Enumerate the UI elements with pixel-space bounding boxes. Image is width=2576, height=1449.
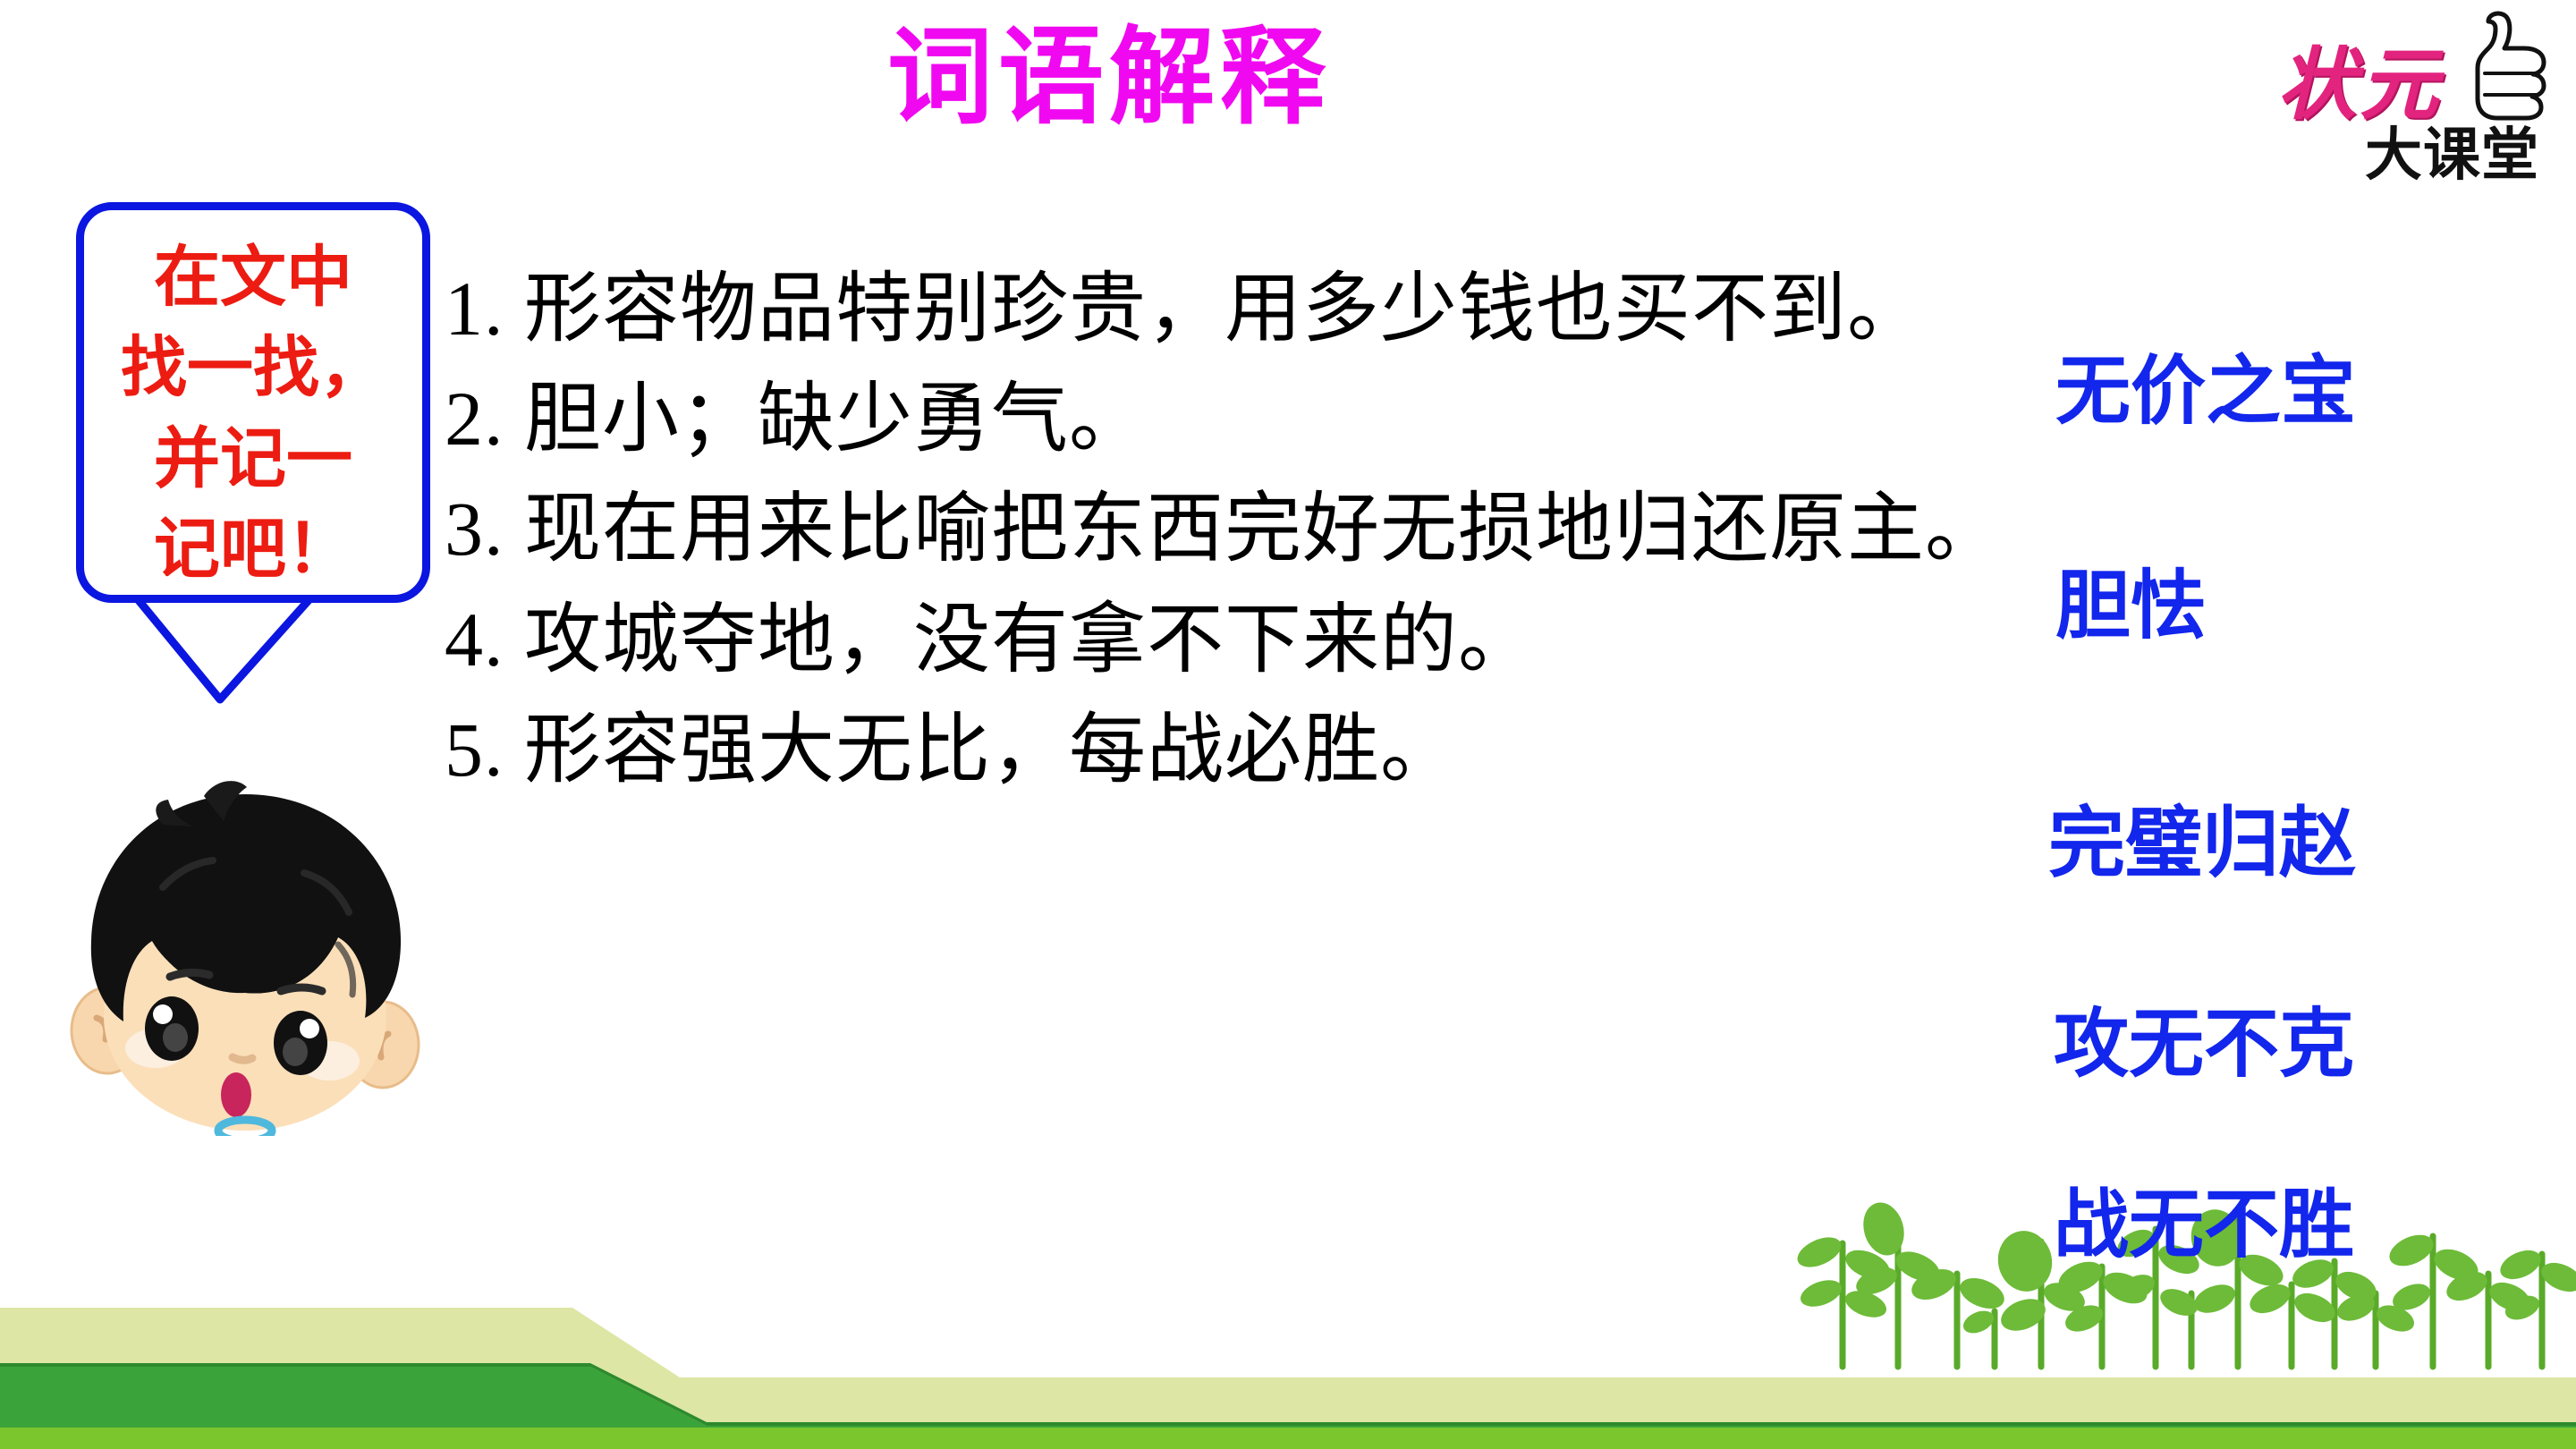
- definition-item: 1. 形容物品特别珍贵，用多少钱也买不到。: [445, 258, 2019, 360]
- definition-item: 3. 现在用来比喻把东西完好无损地归还原主。: [445, 478, 2019, 580]
- definition-item: 5. 形容强大无比，每战必胜。: [445, 699, 2019, 801]
- brand-logo: 状元 大课堂: [2272, 5, 2567, 184]
- prompt-bubble-text: 在文中 找一找， 并记一 记吧！: [84, 232, 422, 595]
- answer-word: 胆怯: [2055, 546, 2206, 654]
- definition-item: 4. 攻城夺地，没有拿不下来的。: [445, 589, 2019, 691]
- page-title: 词语解释: [0, 23, 2218, 134]
- definition-item: 2. 胆小；缺少勇气。: [445, 368, 2019, 470]
- answer-word: 战无不胜: [2054, 1165, 2354, 1273]
- cartoon-boy-avatar: [70, 769, 420, 1136]
- brand-sub-text: 大课堂: [2365, 109, 2539, 191]
- answer-word: 无价之宝: [2055, 331, 2356, 439]
- prompt-bubble: 在文中 找一找， 并记一 记吧！: [76, 202, 430, 603]
- answer-word: 攻无不克: [2054, 984, 2354, 1092]
- answer-word: 完璧归赵: [2048, 780, 2356, 892]
- definition-list: 1. 形容物品特别珍贵，用多少钱也买不到。 2. 胆小；缺少勇气。 3. 现在用…: [445, 258, 2019, 809]
- bottom-banner-decoration: [0, 1268, 2576, 1449]
- prompt-bubble-tail-icon: [134, 594, 313, 710]
